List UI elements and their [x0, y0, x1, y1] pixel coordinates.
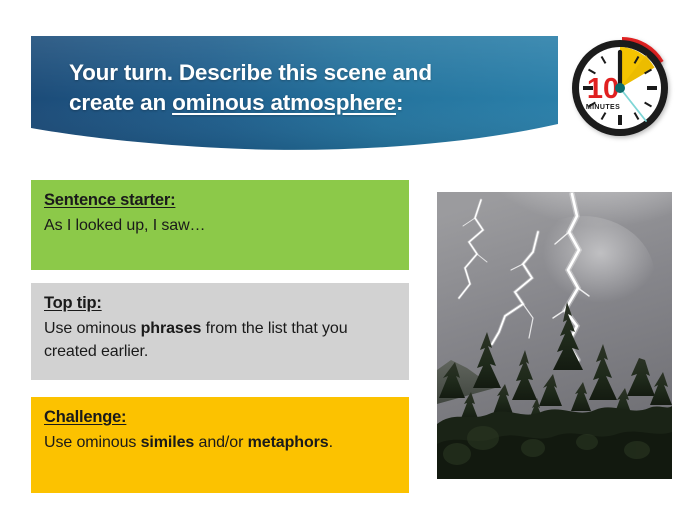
- lightning-storm-photo: [437, 192, 672, 479]
- top-tip-body: Use ominous phrases from the list that y…: [44, 317, 396, 363]
- timer-number: 10: [587, 73, 619, 105]
- body-segment: As I looked up, I saw…: [44, 217, 205, 234]
- top-tip-box: Top tip: Use ominous phrases from the li…: [31, 283, 409, 380]
- title-line-2-suffix: :: [396, 90, 403, 115]
- title-line-1: Your turn. Describe this scene and: [69, 60, 432, 85]
- body-segment: Use ominous: [44, 320, 141, 337]
- body-segment-bold: similes: [141, 434, 195, 451]
- top-tip-heading: Top tip:: [44, 292, 396, 314]
- clock-face: 10 MINUTES: [561, 26, 683, 152]
- body-segment-bold: metaphors: [248, 434, 329, 451]
- challenge-box: Challenge: Use ominous similes and/or me…: [31, 397, 409, 493]
- body-segment-bold: phrases: [141, 320, 202, 337]
- photo-content: [437, 192, 672, 479]
- title-emphasis: ominous atmosphere: [172, 90, 396, 115]
- body-segment: Use ominous: [44, 434, 141, 451]
- body-segment: .: [329, 434, 333, 451]
- sentence-starter-heading: Sentence starter:: [44, 189, 396, 211]
- header-banner: Your turn. Describe this scene and creat…: [31, 36, 558, 158]
- clock-center-pin: [615, 83, 625, 93]
- body-segment: and/or: [194, 434, 247, 451]
- sentence-starter-box: Sentence starter: As I looked up, I saw…: [31, 180, 409, 270]
- challenge-body: Use ominous similes and/or metaphors.: [44, 431, 396, 454]
- page-title: Your turn. Describe this scene and creat…: [69, 58, 529, 118]
- timer-unit-label: MINUTES: [586, 104, 620, 111]
- timer-clock-icon: 10 MINUTES: [561, 26, 683, 152]
- challenge-heading: Challenge:: [44, 406, 396, 428]
- title-line-2-prefix: create an: [69, 90, 172, 115]
- sentence-starter-body: As I looked up, I saw…: [44, 214, 396, 237]
